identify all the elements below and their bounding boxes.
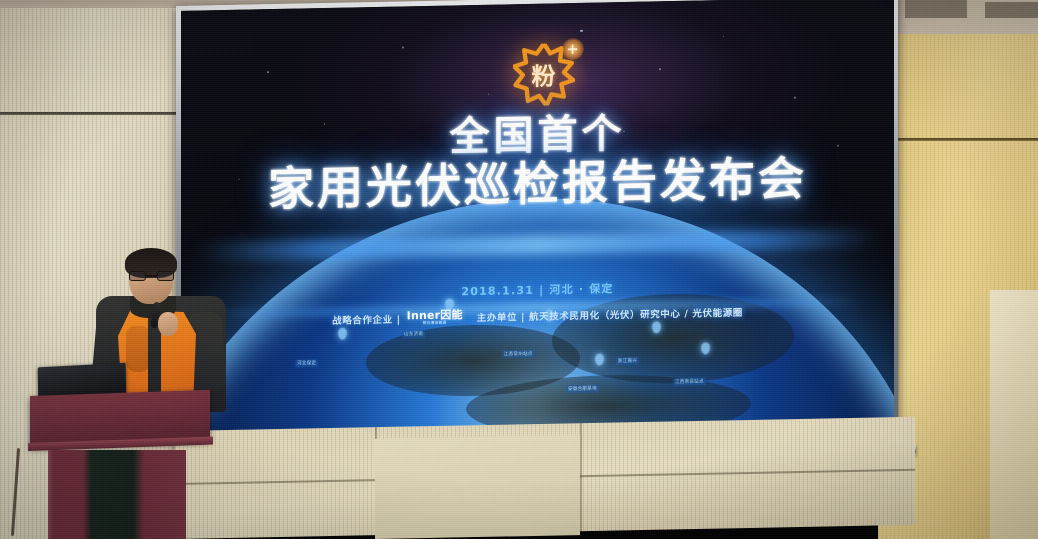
presenter-jacket-inner-panel	[126, 326, 150, 372]
credit-partner: 战略合作企业 | Inner因能 阳光清洁能源	[332, 309, 463, 327]
partner-logo-main: Inner因能	[407, 309, 463, 321]
map-pin-label: 浙江嘉兴	[616, 357, 639, 365]
wall-below-screen-flat-panel	[375, 435, 580, 539]
projection-screen-frame: 河北保定 山东济南 江苏常州站点 浙江嘉兴 安徽合肥基地 江西南昌站点 粉 +	[176, 0, 898, 461]
wall-seam	[0, 112, 186, 115]
map-pin-label: 江苏常州站点	[502, 350, 535, 359]
presenter-hand	[158, 312, 178, 336]
map-pin	[652, 321, 661, 333]
map-pin	[595, 353, 604, 365]
map-pin	[338, 327, 347, 339]
wall-seam	[580, 423, 582, 531]
ceiling-tile	[905, 0, 967, 18]
conference-photo-scene: 河北保定 山东济南 江苏常州站点 浙江嘉兴 安徽合肥基地 江西南昌站点 粉 +	[0, 0, 1038, 539]
projection-screen: 河北保定 山东济南 江苏常州站点 浙江嘉兴 安徽合肥基地 江西南昌站点 粉 +	[181, 0, 894, 455]
map-pin-label: 安徽合肥基地	[566, 384, 599, 393]
wall-right-pale-panel	[990, 290, 1038, 539]
map-pin-label: 山东济南	[402, 330, 425, 338]
badge-plus-icon: +	[562, 38, 584, 60]
podium-body	[54, 450, 186, 539]
partner-label: 战略合作企业 |	[332, 311, 401, 326]
ceiling-tile	[985, 2, 1038, 18]
wall-seam	[878, 138, 1038, 141]
map-pin-label: 河北保定	[295, 359, 318, 367]
partner-logo-sub: 阳光清洁能源	[423, 322, 447, 326]
slide-title-block: 全国首个 家用光伏巡检报告发布会	[181, 108, 894, 217]
partner-logo: Inner因能 阳光清洁能源	[407, 309, 463, 326]
map-pin-label: 江西南昌站点	[673, 378, 706, 387]
event-badge: 粉 +	[513, 43, 575, 106]
glasses-icon	[129, 271, 174, 281]
